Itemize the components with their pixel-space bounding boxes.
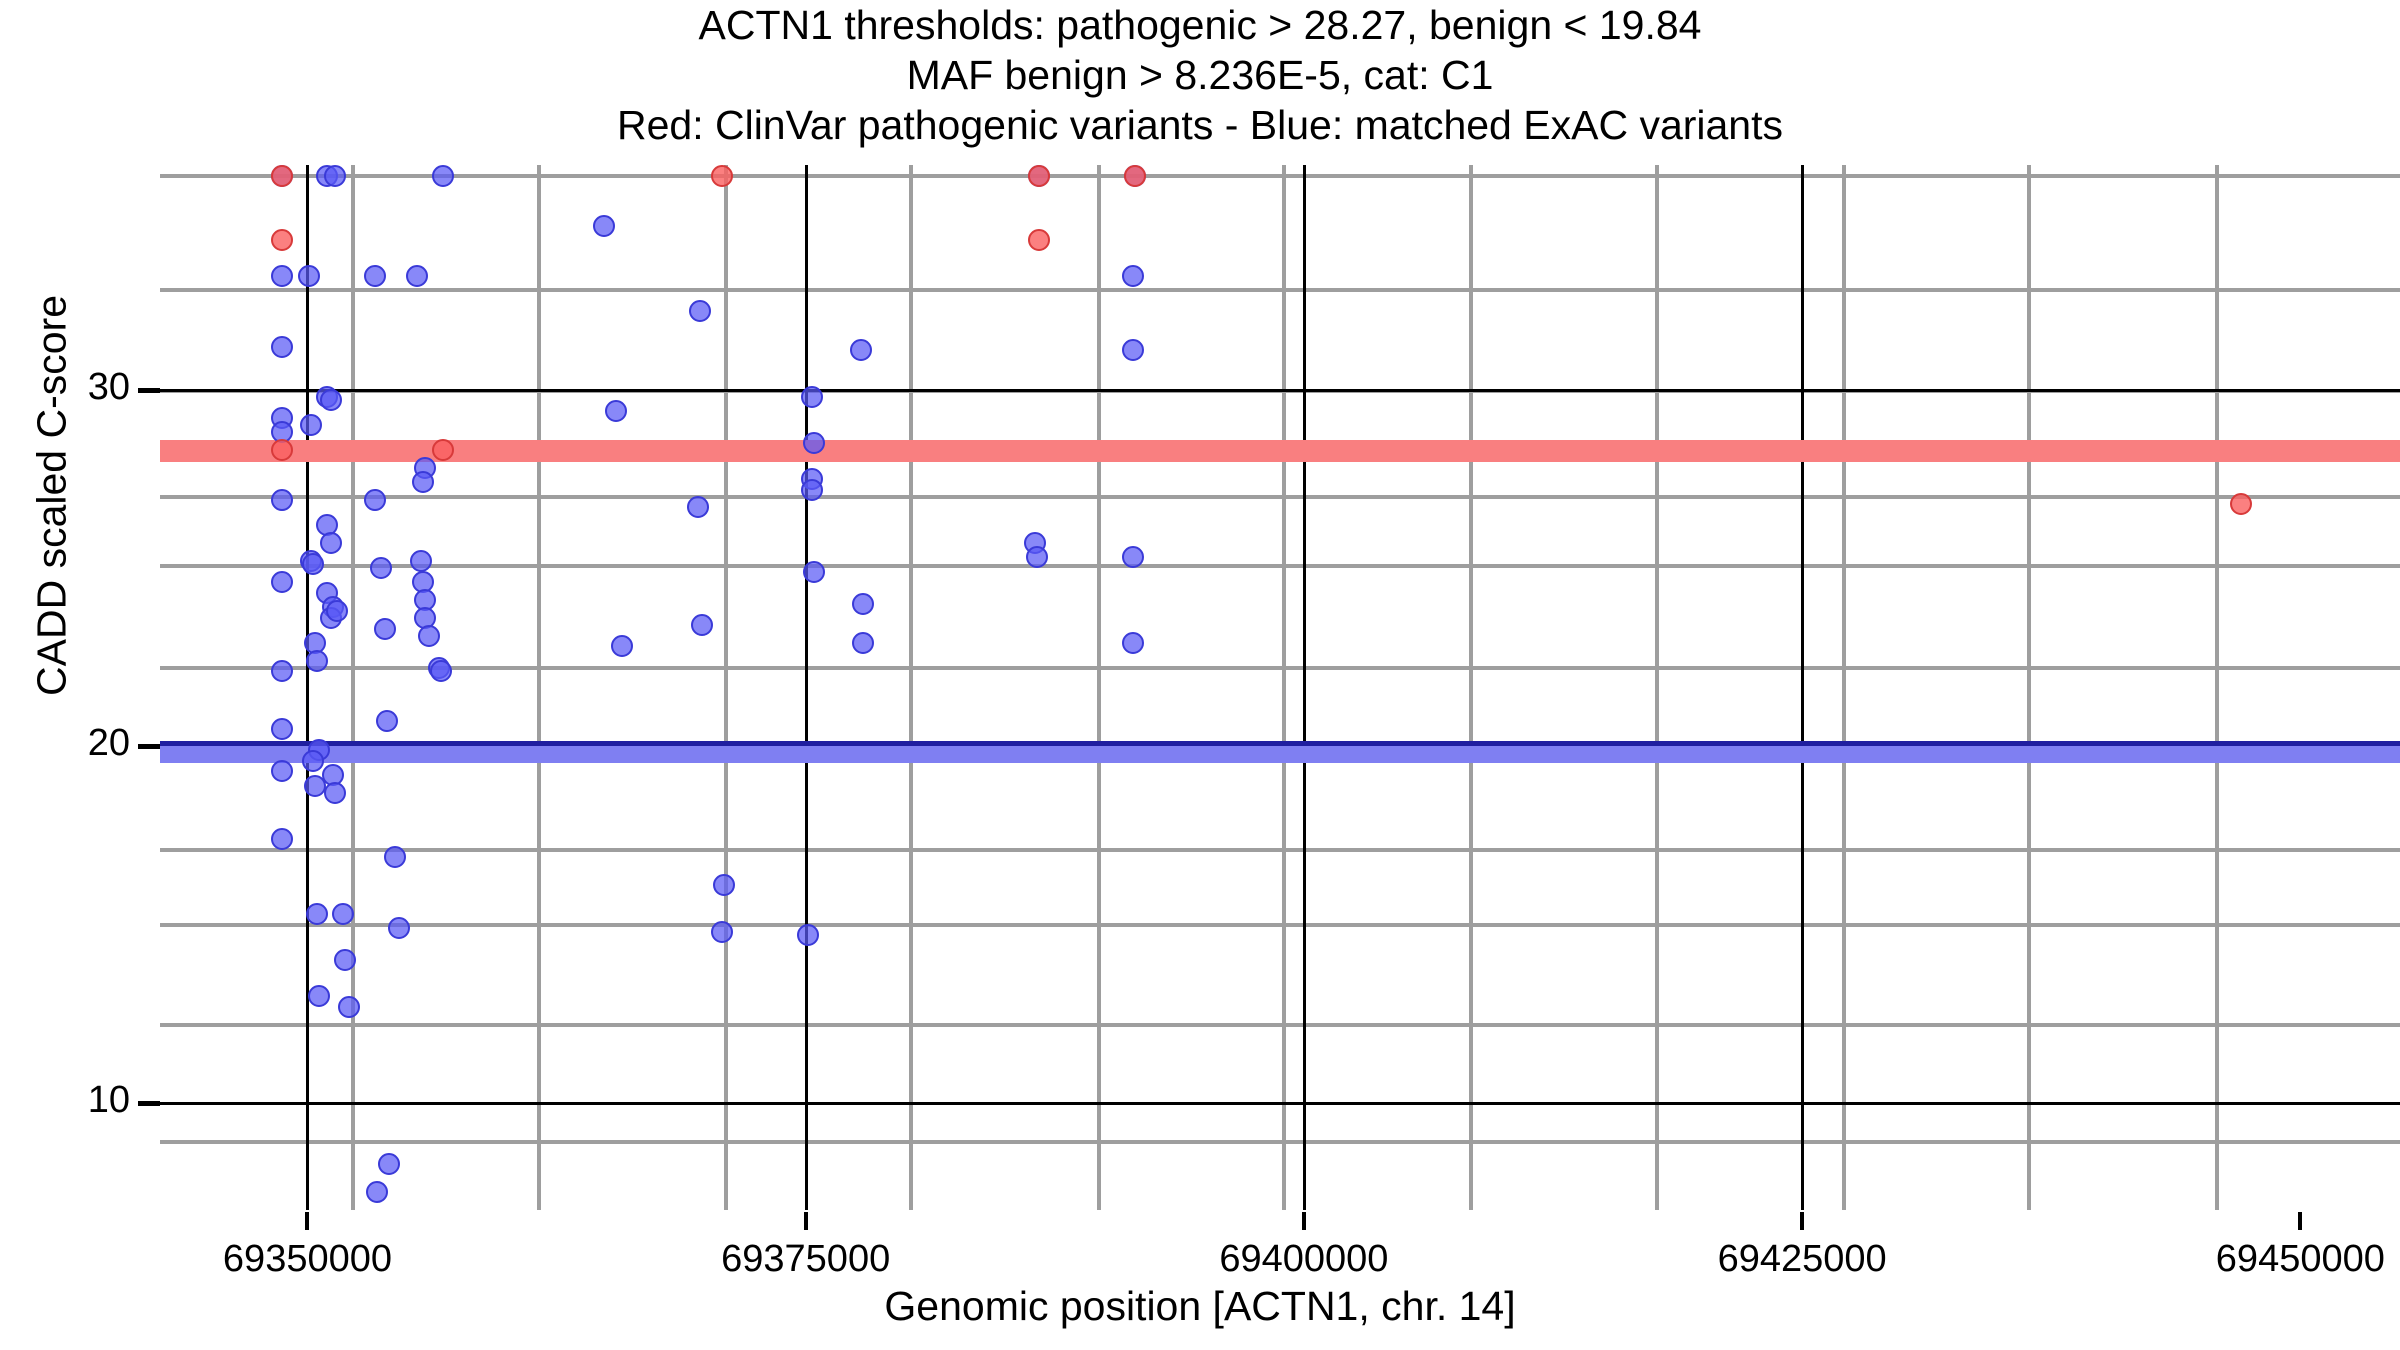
data-point-exac[interactable] xyxy=(326,600,348,622)
gridline-vertical xyxy=(1282,165,1286,1210)
axis-rule-vertical xyxy=(805,165,808,1210)
data-point-exac[interactable] xyxy=(388,917,410,939)
data-point-exac[interactable] xyxy=(797,924,819,946)
data-point-exac[interactable] xyxy=(1122,546,1144,568)
data-point-exac[interactable] xyxy=(300,414,322,436)
x-tick-mark xyxy=(305,1212,309,1230)
data-point-exac[interactable] xyxy=(852,593,874,615)
data-point-exac[interactable] xyxy=(370,557,392,579)
chart-root: ACTN1 thresholds: pathogenic > 28.27, be… xyxy=(0,0,2400,1350)
axis-rule-vertical xyxy=(1303,165,1306,1210)
data-point-exac[interactable] xyxy=(338,996,360,1018)
title-line-3: Red: ClinVar pathogenic variants - Blue:… xyxy=(0,100,2400,150)
gridline-vertical xyxy=(1097,165,1101,1210)
data-point-exac[interactable] xyxy=(324,165,346,187)
gridline-vertical xyxy=(2215,165,2219,1210)
data-point-exac[interactable] xyxy=(687,496,709,518)
data-point-exac[interactable] xyxy=(593,215,615,237)
gridline-horizontal xyxy=(160,1023,2400,1027)
data-point-exac[interactable] xyxy=(271,571,293,593)
title-line-1: ACTN1 thresholds: pathogenic > 28.27, be… xyxy=(0,0,2400,50)
y-tick-mark xyxy=(138,744,160,749)
gridline-vertical xyxy=(724,165,728,1210)
gridline-horizontal xyxy=(160,174,2400,178)
data-point-exac[interactable] xyxy=(803,432,825,454)
data-point-exac[interactable] xyxy=(410,550,432,572)
gridline-vertical xyxy=(1655,165,1659,1210)
axis-rule-vertical xyxy=(1801,165,1804,1210)
gridline-horizontal xyxy=(160,848,2400,852)
chart-title: ACTN1 thresholds: pathogenic > 28.27, be… xyxy=(0,0,2400,150)
x-tick-mark xyxy=(1302,1212,1306,1230)
x-tick-mark xyxy=(804,1212,808,1230)
data-point-exac[interactable] xyxy=(308,985,330,1007)
data-point-exac[interactable] xyxy=(271,489,293,511)
x-axis-label: Genomic position [ACTN1, chr. 14] xyxy=(0,1283,2400,1330)
benign-threshold-line xyxy=(160,741,2400,746)
data-point-pathogenic[interactable] xyxy=(271,165,293,187)
y-axis-label: CADD scaled C-score xyxy=(29,0,76,996)
data-point-exac[interactable] xyxy=(430,660,452,682)
data-point-exac[interactable] xyxy=(271,660,293,682)
axis-rule-vertical xyxy=(306,165,309,1210)
gridline-horizontal xyxy=(160,923,2400,927)
data-point-exac[interactable] xyxy=(364,265,386,287)
title-line-2: MAF benign > 8.236E-5, cat: C1 xyxy=(0,50,2400,100)
data-point-exac[interactable] xyxy=(324,782,346,804)
data-point-exac[interactable] xyxy=(611,635,633,657)
x-tick-label: 69350000 xyxy=(147,1238,467,1281)
data-point-exac[interactable] xyxy=(605,400,627,422)
data-point-exac[interactable] xyxy=(689,300,711,322)
data-point-exac[interactable] xyxy=(320,389,342,411)
x-tick-mark xyxy=(1800,1212,1804,1230)
data-point-exac[interactable] xyxy=(852,632,874,654)
data-point-exac[interactable] xyxy=(378,1153,400,1175)
gridline-vertical xyxy=(909,165,913,1210)
gridline-vertical xyxy=(537,165,541,1210)
axis-rule-horizontal xyxy=(160,1102,2400,1105)
gridline-vertical xyxy=(1469,165,1473,1210)
data-point-exac[interactable] xyxy=(713,874,735,896)
x-tick-label: 69375000 xyxy=(646,1238,966,1281)
x-tick-label: 69425000 xyxy=(1642,1238,1962,1281)
data-point-exac[interactable] xyxy=(271,336,293,358)
data-point-exac[interactable] xyxy=(302,553,324,575)
data-point-exac[interactable] xyxy=(298,265,320,287)
x-tick-label: 69400000 xyxy=(1144,1238,1464,1281)
data-point-pathogenic[interactable] xyxy=(711,165,733,187)
y-tick-label: 10 xyxy=(10,1079,130,1122)
y-tick-label: 30 xyxy=(10,366,130,409)
data-point-exac[interactable] xyxy=(271,760,293,782)
data-point-exac[interactable] xyxy=(271,828,293,850)
axis-rule-horizontal xyxy=(160,389,2400,392)
data-point-exac[interactable] xyxy=(418,625,440,647)
data-point-pathogenic[interactable] xyxy=(271,229,293,251)
data-point-exac[interactable] xyxy=(711,921,733,943)
benign-threshold-band xyxy=(160,741,2400,763)
data-point-exac[interactable] xyxy=(306,903,328,925)
data-point-exac[interactable] xyxy=(432,165,454,187)
data-point-exac[interactable] xyxy=(1026,546,1048,568)
gridline-horizontal xyxy=(160,495,2400,499)
pathogenic-threshold-band xyxy=(160,440,2400,462)
data-point-exac[interactable] xyxy=(412,471,434,493)
gridline-horizontal xyxy=(160,1140,2400,1144)
y-tick-mark xyxy=(138,1101,160,1106)
y-tick-label: 20 xyxy=(10,722,130,765)
gridline-horizontal xyxy=(160,564,2400,568)
data-point-exac[interactable] xyxy=(366,1181,388,1203)
data-point-exac[interactable] xyxy=(271,265,293,287)
data-point-pathogenic[interactable] xyxy=(271,439,293,461)
data-point-exac[interactable] xyxy=(691,614,713,636)
data-point-exac[interactable] xyxy=(376,710,398,732)
plot-area xyxy=(160,165,2400,1210)
x-tick-mark xyxy=(2298,1212,2302,1230)
x-tick-label: 69450000 xyxy=(2140,1238,2400,1281)
data-point-exac[interactable] xyxy=(406,265,428,287)
gridline-vertical xyxy=(2027,165,2031,1210)
data-point-exac[interactable] xyxy=(1122,339,1144,361)
data-point-exac[interactable] xyxy=(803,561,825,583)
data-point-exac[interactable] xyxy=(801,386,823,408)
gridline-vertical xyxy=(351,165,355,1210)
gridline-horizontal xyxy=(160,288,2400,292)
data-point-exac[interactable] xyxy=(1122,632,1144,654)
data-point-exac[interactable] xyxy=(364,489,386,511)
gridline-vertical xyxy=(1842,165,1846,1210)
data-point-exac[interactable] xyxy=(384,846,406,868)
data-point-pathogenic[interactable] xyxy=(1124,165,1146,187)
gridline-horizontal xyxy=(160,666,2400,670)
data-point-exac[interactable] xyxy=(302,750,324,772)
data-point-pathogenic[interactable] xyxy=(1028,165,1050,187)
data-point-pathogenic[interactable] xyxy=(2230,493,2252,515)
y-tick-mark xyxy=(138,388,160,393)
data-point-exac[interactable] xyxy=(1122,265,1144,287)
data-point-exac[interactable] xyxy=(271,718,293,740)
data-point-exac[interactable] xyxy=(374,618,396,640)
data-point-exac[interactable] xyxy=(320,532,342,554)
data-point-exac[interactable] xyxy=(801,479,823,501)
data-point-pathogenic[interactable] xyxy=(1028,229,1050,251)
data-point-exac[interactable] xyxy=(850,339,872,361)
